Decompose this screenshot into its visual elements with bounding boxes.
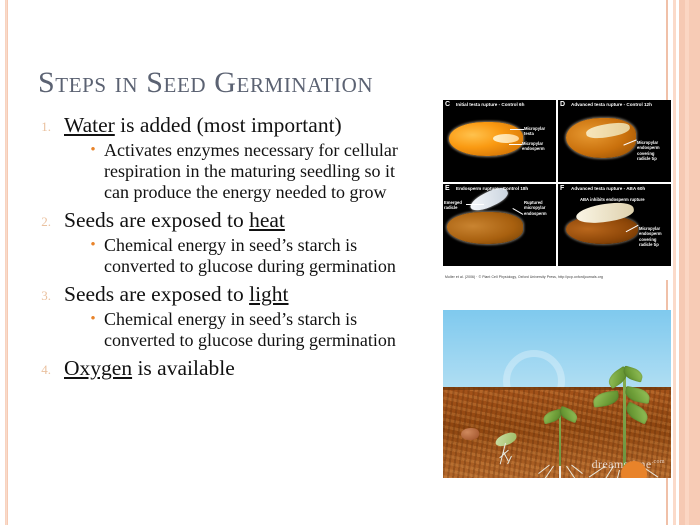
micrograph-panel-f: F Advanced testa rupture - ABA 60h ABA i… <box>558 184 671 266</box>
micrograph-grid: C Initial testa rupture - Control 6h Mic… <box>443 100 671 266</box>
panel-note: Emerged radicle <box>444 200 466 211</box>
list-text-rest: is added (most important) <box>115 113 342 137</box>
sub-list-text: Activates enzymes necessary for cellular… <box>104 140 404 203</box>
keyword-underlined: heat <box>249 208 285 232</box>
seed-image-d <box>566 118 636 158</box>
panel-note: Micropylar testa <box>524 126 554 137</box>
list-number: 2. <box>30 207 56 230</box>
micrograph-panel-d: D Advanced testa rupture - Control 12h M… <box>558 100 671 182</box>
bullet-icon: • <box>82 309 104 328</box>
slide: Steps in Seed Germination 1. Water is ad… <box>0 0 700 525</box>
panel-title: Endosperm rupture - Control 18h <box>456 186 528 191</box>
sub-list-text: Chemical energy in seed’s starch is conv… <box>104 309 404 351</box>
list-item: 1. Water is added (most important) <box>30 112 450 139</box>
watermark-suffix: .com <box>652 459 665 465</box>
keyword-underlined: light <box>249 282 288 306</box>
list-number: 4. <box>30 355 56 378</box>
keyword-underlined: Oxygen <box>64 356 132 380</box>
right-edge-stripes <box>666 0 700 525</box>
micrograph-figure: C Initial testa rupture - Control 6h Mic… <box>443 100 671 280</box>
left-edge-stripe <box>5 0 8 525</box>
keyword-underlined: Water <box>64 113 115 137</box>
panel-note: Ruptured micropylar endosperm <box>524 200 554 216</box>
micrograph-panel-e: E Endosperm rupture - Control 18h Emerge… <box>443 184 556 266</box>
list-text: Oxygen is available <box>56 355 235 382</box>
panel-letter: C <box>445 101 450 108</box>
panel-note: ABA inhibits endosperm rupture <box>580 197 650 202</box>
leader-line <box>510 129 524 130</box>
list-item: 4. Oxygen is available <box>30 355 450 382</box>
sub-list-item: • Chemical energy in seed’s starch is co… <box>30 309 450 351</box>
list-number: 1. <box>30 112 56 135</box>
slide-title: Steps in Seed Germination <box>38 66 373 100</box>
list-item: 3. Seeds are exposed to light <box>30 281 450 308</box>
seed-stage-dormant <box>461 428 479 440</box>
panel-title: Advanced testa rupture - Control 12h <box>571 102 652 107</box>
content-list: 1. Water is added (most important) • Act… <box>30 112 450 383</box>
micrograph-panel-c: C Initial testa rupture - Control 6h Mic… <box>443 100 556 182</box>
leader-line <box>509 144 522 145</box>
bullet-icon: • <box>82 140 104 159</box>
panel-note: Micropylar endosperm <box>522 141 554 152</box>
list-text: Seeds are exposed to light <box>56 281 289 308</box>
edge-stripe-7 <box>689 0 700 525</box>
seed-image-c <box>449 122 523 156</box>
sub-list-item: • Chemical energy in seed’s starch is co… <box>30 235 450 277</box>
root <box>559 466 561 478</box>
panel-note: Micropylar endosperm covering radicle ti… <box>637 140 669 161</box>
panel-title: Advanced testa rupture - ABA 60h <box>571 186 645 191</box>
sub-list-text: Chemical energy in seed’s starch is conv… <box>104 235 404 277</box>
panel-title: Initial testa rupture - Control 6h <box>456 102 524 107</box>
panel-letter: D <box>560 101 565 108</box>
panel-note: Micropylar endosperm covering radicle ti… <box>639 226 669 247</box>
panel-letter: F <box>560 185 564 192</box>
list-item: 2. Seeds are exposed to heat <box>30 207 450 234</box>
stem <box>559 414 561 466</box>
list-text-prefix: Seeds are exposed to <box>64 282 249 306</box>
list-text-prefix: Seeds are exposed to <box>64 208 249 232</box>
germination-photo: dreamstime.com <box>443 310 671 478</box>
list-number: 3. <box>30 281 56 304</box>
bullet-icon: • <box>82 235 104 254</box>
leader-line <box>513 208 524 215</box>
list-text: Seeds are exposed to heat <box>56 207 285 234</box>
figure-credit: Muller et al. (2006) · © Plant Cell Phys… <box>445 275 603 279</box>
sub-list-item: • Activates enzymes necessary for cellul… <box>30 140 450 203</box>
seed-image-e <box>447 212 523 244</box>
leader-line <box>466 204 484 205</box>
list-text: Water is added (most important) <box>56 112 342 139</box>
panel-letter: E <box>445 185 450 192</box>
list-text-rest: is available <box>132 356 235 380</box>
